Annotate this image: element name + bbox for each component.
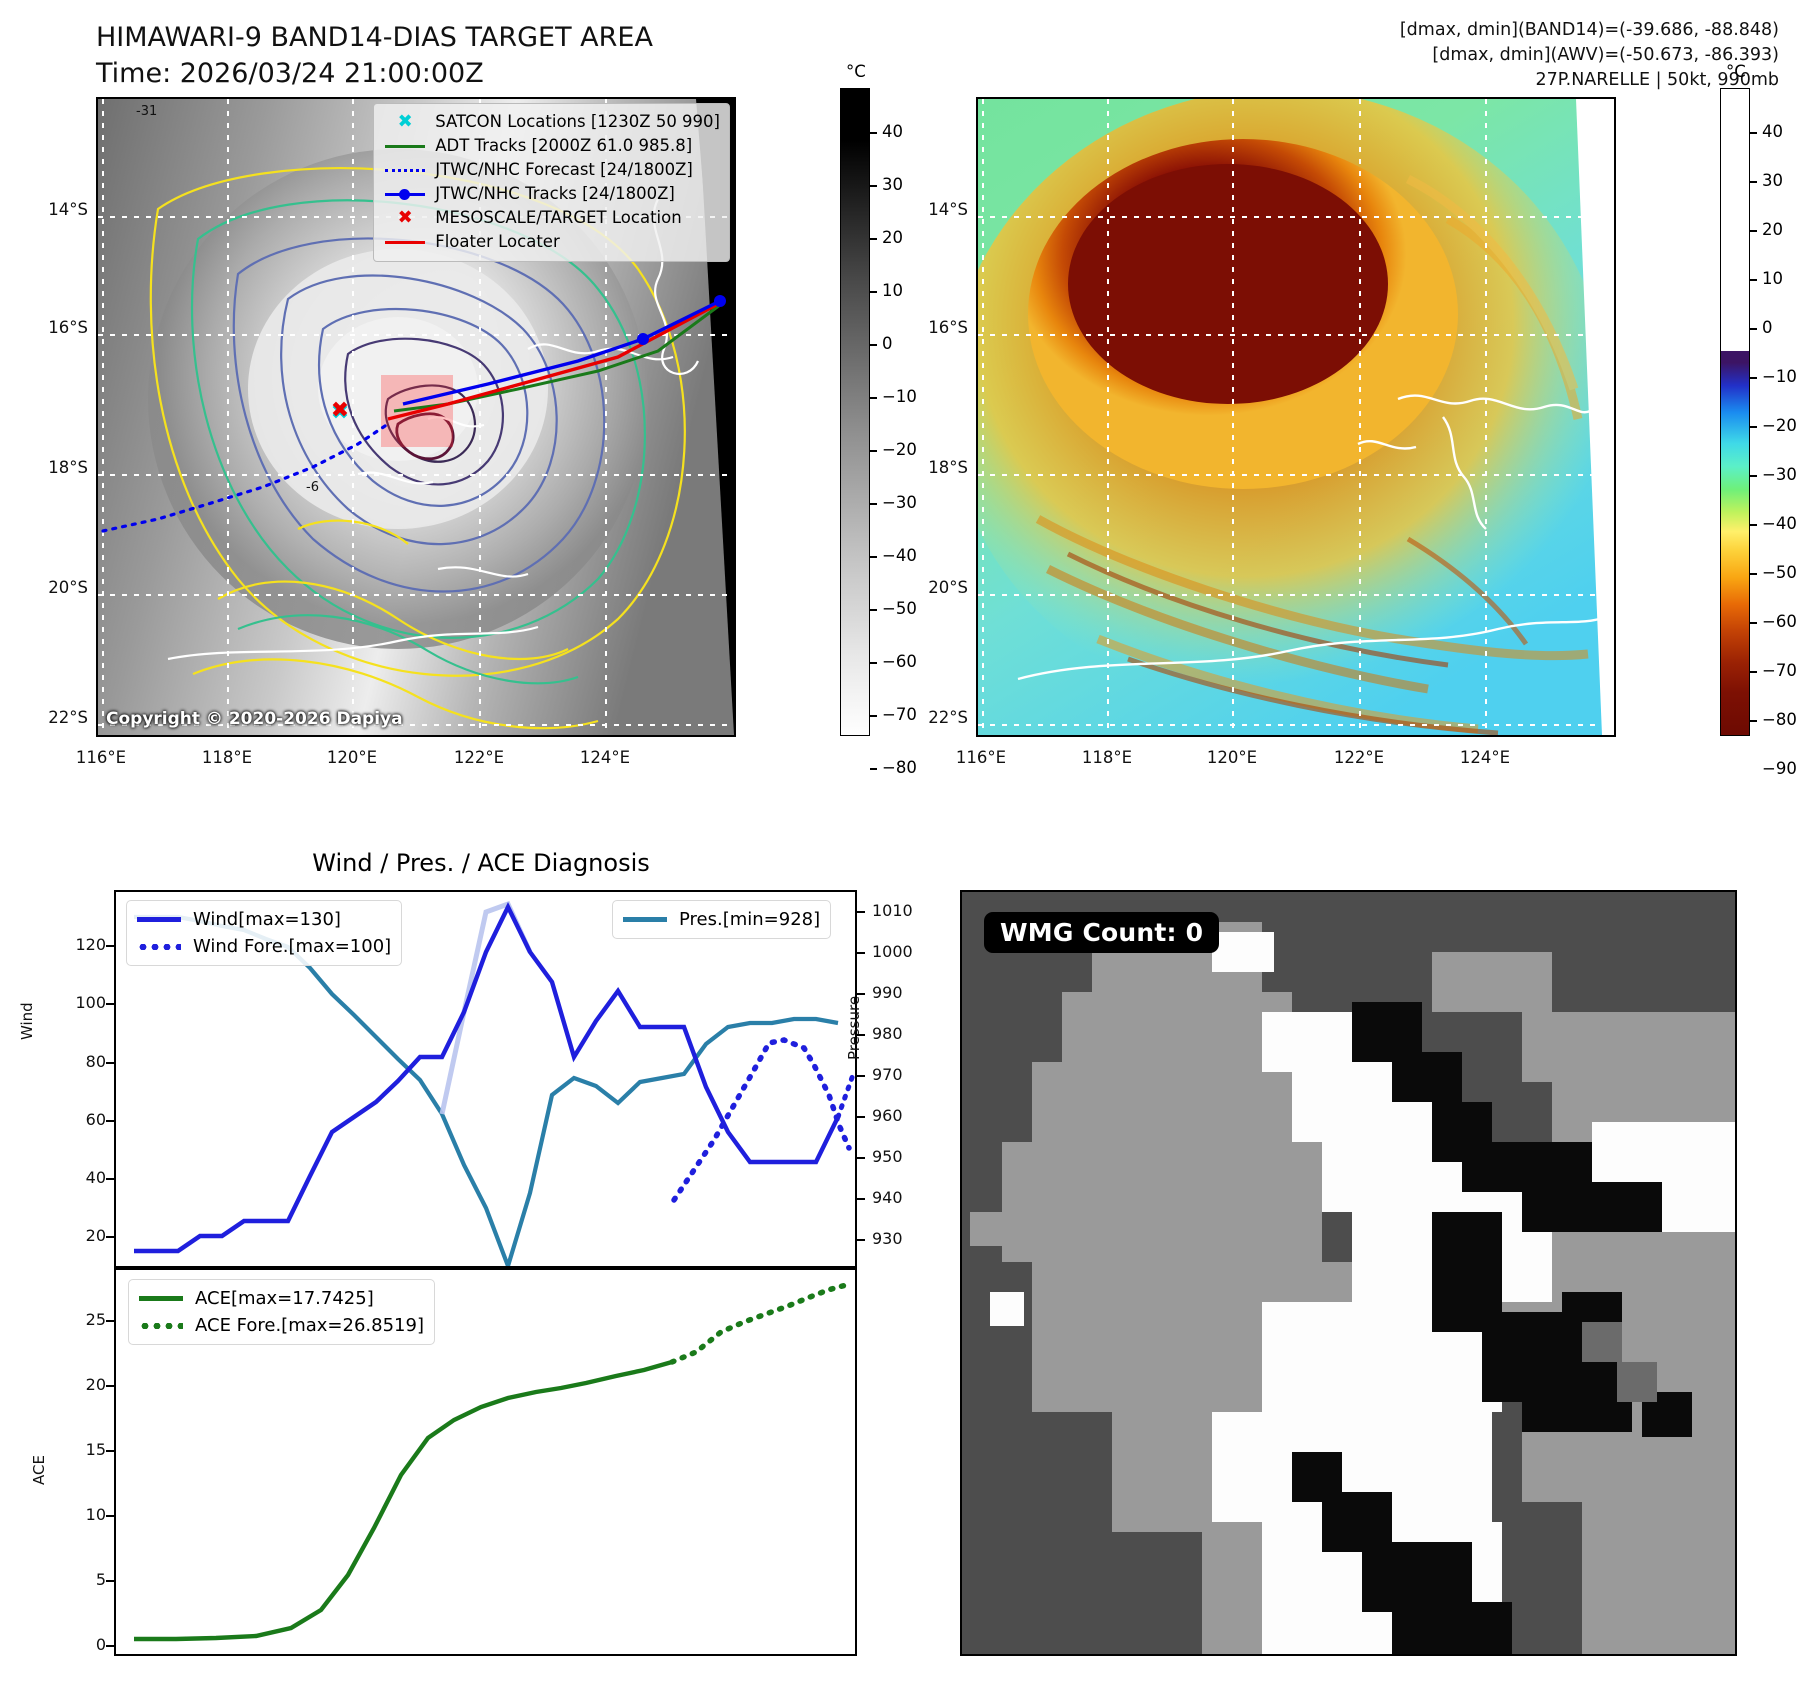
right-cb-tickmark [1750,573,1757,575]
ir-lat-label-14s: 14°S [18,200,88,219]
ace-tick-10: 10 [58,1505,106,1524]
left-cb-tickmark [870,291,877,293]
map-legend: ✖ SATCON Locations [1230Z 50 990] ADT Tr… [373,103,730,262]
legend-label: Wind[max=130] [193,906,341,933]
ace-tick-15: 15 [58,1440,106,1459]
root-canvas: HIMAWARI-9 BAND14-DIAS TARGET AREA Time:… [0,0,1797,1690]
left-cb-tick-m80: −80 [882,758,917,777]
awv-satellite-map[interactable] [976,97,1616,737]
track-line-dot-icon [383,193,427,196]
right-cb-tick-30: 30 [1762,171,1783,190]
right-cb-tickmark [1750,279,1757,281]
left-cb-tick-m10: −10 [882,387,917,406]
pres-tick-930: 930 [872,1229,903,1248]
right-cb-tickmark [1750,475,1757,477]
wind-tickmark [106,1236,114,1238]
ace-tickmark [106,1320,114,1322]
pressure-axis-title: Pressure [845,996,863,1060]
title-line-1: HIMAWARI-9 BAND14-DIAS TARGET AREA [96,20,796,56]
legend-item-ace-forecast: ACE Fore.[max=26.8519] [139,1312,424,1339]
ir-lon-label-116e: 116°E [61,748,141,767]
pres-tickmark [857,1075,865,1077]
pres-tickmark [857,993,865,995]
legend-label: Wind Fore.[max=100] [193,933,391,960]
mesoscale-target-marker: ✖ [331,398,349,423]
wind-tick-20: 20 [58,1226,106,1245]
right-cb-tick-10: 10 [1762,269,1783,288]
ace-legend: ACE[max=17.7425] ACE Fore.[max=26.8519] [128,1279,435,1345]
series-ace-forecast [672,1285,846,1362]
svg-text:-6: -6 [306,480,319,495]
ir-lat-label-16s: 16°S [18,318,88,337]
right-cb-tick-m20: −20 [1762,416,1797,435]
page-title: HIMAWARI-9 BAND14-DIAS TARGET AREA Time:… [96,20,796,91]
pres-tickmark [857,1198,865,1200]
ace-tick-25: 25 [58,1310,106,1329]
floater-line-icon [383,241,427,244]
legend-item-ace: ACE[max=17.7425] [139,1285,424,1312]
right-cb-tick-m30: −30 [1762,465,1797,484]
wmg-grid-image [962,892,1735,1654]
pres-tick-980: 980 [872,1024,903,1043]
left-cb-tick-30: 30 [882,175,903,194]
left-cb-tick-m30: −30 [882,493,917,512]
wind-legend: Wind[max=130] Wind Fore.[max=100] [126,900,402,966]
left-cb-tick-m50: −50 [882,599,917,618]
ace-tickmark [106,1645,114,1647]
satcon-x-icon: ✖ [383,115,427,129]
pres-tick-990: 990 [872,983,903,1002]
svg-text:-31: -31 [136,104,157,119]
awv-imagery [978,99,1614,735]
left-cb-tick-10: 10 [882,281,903,300]
legend-item-wind: Wind[max=130] [137,906,391,933]
wind-tick-120: 120 [58,935,106,954]
left-cb-tickmark [870,344,877,346]
left-cb-tick-40: 40 [882,122,903,141]
legend-item-satcon: ✖ SATCON Locations [1230Z 50 990] [383,110,720,134]
ace-tickmark [106,1580,114,1582]
legend-item-jtwc-tracks: JTWC/NHC Tracks [24/1800Z] [383,182,720,206]
pressure-solid-line-icon [623,917,671,922]
right-cb-tick-m60: −60 [1762,612,1797,631]
pres-tickmark [857,1239,865,1241]
ir-lon-label-124e: 124°E [565,748,645,767]
series-pressure [134,917,838,1266]
left-cb-tick-m40: −40 [882,546,917,565]
ace-tickmark [106,1450,114,1452]
header-stats: [dmax, dmin](BAND14)=(-39.686, -88.848) … [1400,18,1779,93]
awv-lon-label-122e: 122°E [1319,748,1399,767]
pres-tickmark [857,1116,865,1118]
right-cb-tickmark [1750,524,1757,526]
title-line-2: Time: 2026/03/24 21:00:00Z [96,56,796,92]
right-cb-tick-m70: −70 [1762,661,1797,680]
right-colorbar-unit: °C [1726,62,1746,81]
right-cb-tickmark [1750,181,1757,183]
ace-tick-20: 20 [58,1375,106,1394]
right-cb-tick-m80: −80 [1762,710,1797,729]
wind-tickmark [106,945,114,947]
left-cb-tickmark [870,132,877,134]
legend-label: ACE Fore.[max=26.8519] [195,1312,424,1339]
right-cb-tickmark [1750,671,1757,673]
stat-band14: [dmax, dmin](BAND14)=(-39.686, -88.848) [1400,18,1779,43]
left-cb-tickmark [870,662,877,664]
left-cb-tickmark [870,185,877,187]
ace-tickmark [106,1515,114,1517]
wind-tick-40: 40 [58,1168,106,1187]
right-cb-tick-m40: −40 [1762,514,1797,533]
pres-tickmark [857,952,865,954]
left-colorbar [840,88,870,736]
right-cb-tick-m50: −50 [1762,563,1797,582]
legend-label: MESOSCALE/TARGET Location [435,206,681,230]
wind-tickmark [106,1178,114,1180]
legend-item-mesoscale: ✖ MESOSCALE/TARGET Location [383,206,720,230]
ir-satellite-map[interactable]: ✖ ✖ -31 -6 ✖ SATCON Locations [1230Z 50 … [96,97,736,737]
legend-item-wind-forecast: Wind Fore.[max=100] [137,933,391,960]
legend-item-pressure: Pres.[min=928] [623,906,820,933]
left-cb-tickmark [870,556,877,558]
right-cb-tickmark [1750,132,1757,134]
awv-lon-label-116e: 116°E [941,748,1021,767]
awv-lon-label-124e: 124°E [1445,748,1525,767]
right-colorbar [1720,88,1750,736]
legend-item-adt: ADT Tracks [2000Z 61.0 985.8] [383,134,720,158]
pres-tick-970: 970 [872,1065,903,1084]
right-cb-tick-40: 40 [1762,122,1783,141]
awv-lon-label-118e: 118°E [1067,748,1147,767]
right-cb-tickmark [1750,720,1757,722]
legend-item-jtwc-forecast: JTWC/NHC Forecast [24/1800Z] [383,158,720,182]
pressure-legend: Pres.[min=928] [612,900,831,939]
left-cb-tickmark [870,238,877,240]
right-cb-tick-0: 0 [1762,318,1773,337]
mesoscale-x-icon: ✖ [383,211,427,225]
left-cb-tickmark [870,768,877,770]
wpa-chart-title: Wind / Pres. / ACE Diagnosis [96,849,866,877]
right-cb-tickmark [1750,426,1757,428]
right-cb-tick-m90: −90 [1762,759,1797,778]
legend-label: SATCON Locations [1230Z 50 990] [435,110,720,134]
adt-line-icon [383,145,427,148]
series-wind-forecast [838,1072,854,1117]
left-cb-tickmark [870,609,877,611]
copyright-notice: Copyright © 2020-2026 Dapiya [106,709,403,729]
pres-tick-960: 960 [872,1106,903,1125]
left-cb-tick-20: 20 [882,228,903,247]
ir-lon-label-120e: 120°E [312,748,392,767]
wind-tick-60: 60 [58,1110,106,1129]
pres-tickmark [857,911,865,913]
left-cb-tick-m20: −20 [882,440,917,459]
wmg-count-badge: WMG Count: 0 [984,912,1219,953]
ace-dotted-line-icon [139,1323,187,1329]
svg-text:✖: ✖ [331,398,349,423]
wind-tick-100: 100 [58,993,106,1012]
right-cb-tick-20: 20 [1762,220,1783,239]
ir-lat-label-18s: 18°S [18,458,88,477]
left-cb-tickmark [870,503,877,505]
right-cb-tickmark [1750,622,1757,624]
right-cb-tickmark [1750,328,1757,330]
awv-lat-label-20s: 20°S [898,578,968,597]
awv-lat-label-14s: 14°S [898,200,968,219]
awv-lat-label-22s: 22°S [898,708,968,727]
ir-lat-label-20s: 20°S [18,578,88,597]
legend-item-floater: Floater Locater [383,230,720,254]
legend-label: Pres.[min=928] [679,906,820,933]
stat-awv: [dmax, dmin](AWV)=(-50.673, -86.393) [1400,43,1779,68]
wind-dotted-line-icon [137,944,185,950]
ace-tick-0: 0 [58,1635,106,1654]
legend-label: ADT Tracks [2000Z 61.0 985.8] [435,134,692,158]
wind-tickmark [106,1120,114,1122]
wind-tickmark [106,1003,114,1005]
wmg-panel[interactable]: WMG Count: 0 [960,890,1737,1656]
ir-lon-label-122e: 122°E [439,748,519,767]
left-cb-tickmark [870,450,877,452]
legend-label: JTWC/NHC Tracks [24/1800Z] [435,182,675,206]
ace-tickmark [106,1385,114,1387]
awv-lat-label-18s: 18°S [898,458,968,477]
awv-lon-label-120e: 120°E [1192,748,1272,767]
legend-label: Floater Locater [435,230,560,254]
pres-tickmark [857,1157,865,1159]
pres-tick-940: 940 [872,1188,903,1207]
ace-solid-line-icon [139,1296,187,1301]
ace-axis-title: ACE [30,1455,48,1485]
pres-tickmark [857,1034,865,1036]
forecast-dotted-line-icon [383,169,427,172]
legend-label: ACE[max=17.7425] [195,1285,374,1312]
pres-tick-1010: 1010 [872,901,913,920]
ace-tick-5: 5 [58,1570,106,1589]
wind-tick-80: 80 [58,1052,106,1071]
ir-lon-label-118e: 118°E [187,748,267,767]
awv-lat-label-16s: 16°S [898,318,968,337]
left-cb-tickmark [870,715,877,717]
legend-label: JTWC/NHC Forecast [24/1800Z] [435,158,693,182]
series-ace [134,1362,672,1639]
left-cb-tickmark [870,397,877,399]
left-cb-tick-0: 0 [882,334,893,353]
pres-tick-950: 950 [872,1147,903,1166]
wind-solid-line-icon [137,917,185,922]
wind-tickmark [106,1062,114,1064]
ir-lat-label-22s: 22°S [18,708,88,727]
right-cb-tickmark [1750,230,1757,232]
right-cb-tick-m10: −10 [1762,367,1797,386]
pres-tick-1000: 1000 [872,942,913,961]
left-colorbar-unit: °C [846,62,866,81]
left-cb-tick-m60: −60 [882,652,917,671]
right-cb-tickmark [1750,377,1757,379]
wind-axis-title: Wind [18,1002,36,1040]
